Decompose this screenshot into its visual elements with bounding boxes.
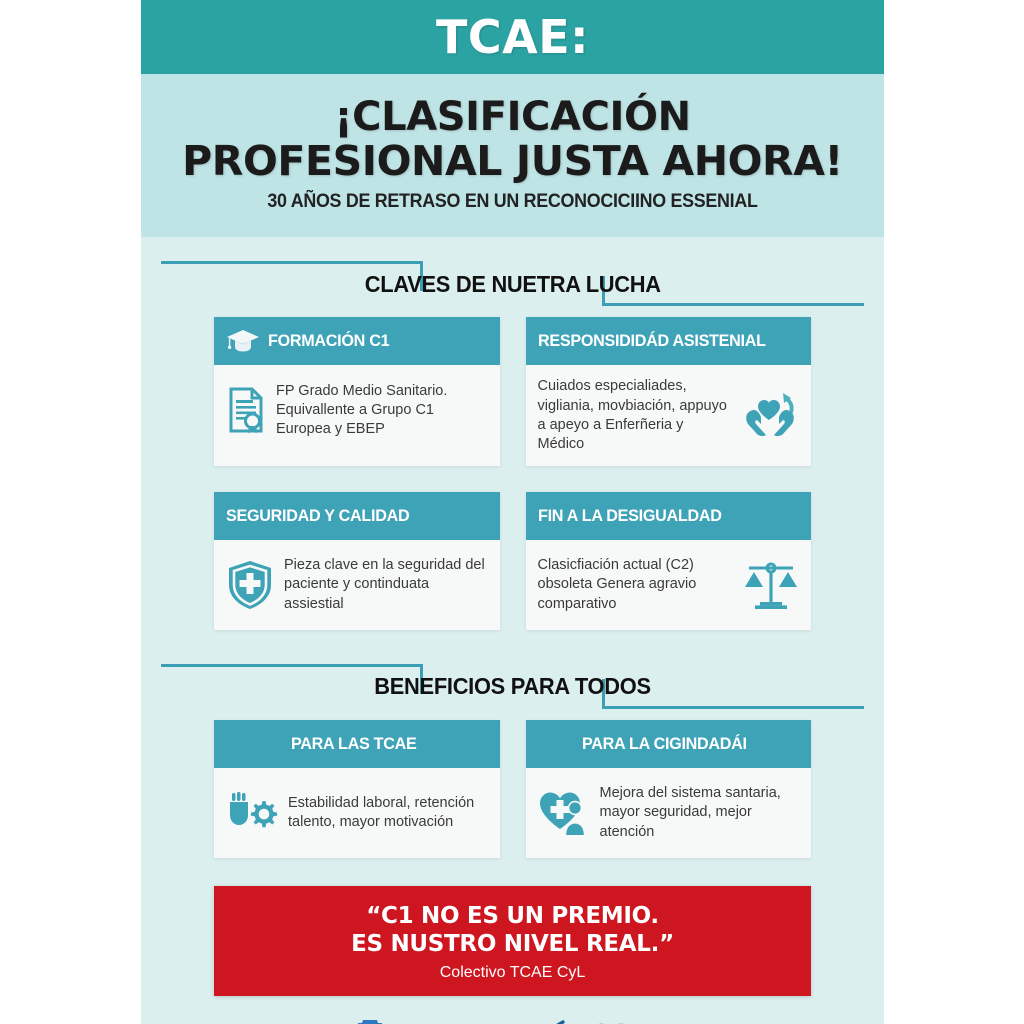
row-spacer bbox=[141, 466, 884, 492]
card-text: Mejora del sistema santaria, mayor segur… bbox=[600, 784, 800, 841]
top-banner: TCAE: bbox=[141, 0, 884, 74]
certificate-document-icon bbox=[226, 386, 266, 434]
card-title: FIN A LA DESIGUALDAD bbox=[538, 506, 722, 526]
card-title: RESPONSIDIDÁD ASISTENIAL bbox=[538, 331, 766, 351]
headline-line-2: PROFESIONAL JUSTA AHORA! bbox=[167, 139, 858, 183]
section-title: CLAVES DE NUETRA LUCHA bbox=[349, 271, 675, 298]
hero-section: ¡CLASIFICACIÓN PROFESIONAL JUSTA AHORA! … bbox=[141, 74, 884, 237]
card-body: Mejora del sistema santaria, mayor segur… bbox=[526, 768, 812, 858]
card-para-la-ciudadania: PARA LA CIGINDADÁI Mejora del sistema sa… bbox=[526, 720, 812, 858]
headline-subtext: 30 AÑOS DE RETRASO EN UN RECONOCICIINO E… bbox=[188, 191, 838, 213]
card-responsabilidad-asistencial: RESPONSIDIDÁD ASISTENIAL Cuiados especia… bbox=[526, 317, 812, 466]
uso-logo: USO CyL bbox=[547, 1020, 670, 1024]
card-header: SEGURIDAD Y CALIDAD bbox=[214, 492, 500, 540]
section-header-claves: CLAVES DE NUETRA LUCHA bbox=[161, 261, 864, 307]
footer: FACUSOCyL Sanitarios unidos USO CyL #TCA… bbox=[141, 1018, 884, 1024]
cards-grid-row-3: PARA LAS TCAE Estabilidad laboral, reten… bbox=[141, 720, 884, 858]
card-header: PARA LA CIGINDADÁI bbox=[526, 720, 812, 768]
shield-crest-icon bbox=[355, 1018, 385, 1024]
card-body: Estabilidad laboral, retención talento, … bbox=[214, 768, 500, 858]
card-header: FIN A LA DESIGUALDAD bbox=[526, 492, 812, 540]
card-formacion-c1: FORMACIÓN C1 FP Grado Medio Sanita bbox=[214, 317, 500, 466]
card-title: FORMACIÓN C1 bbox=[268, 331, 389, 351]
graduation-cap-icon bbox=[226, 328, 260, 354]
cards-grid-row-1: FORMACIÓN C1 FP Grado Medio Sanita bbox=[141, 317, 884, 466]
justice-scales-icon bbox=[743, 559, 799, 611]
cards-grid-row-2: SEGURIDAD Y CALIDAD Pieza clave en la se… bbox=[141, 492, 884, 630]
headline-line-1: ¡CLASIFICACIÓN bbox=[167, 96, 858, 139]
quote-author: Colectivo TCAE CyL bbox=[224, 964, 801, 982]
uso-swoosh-icon bbox=[547, 1020, 565, 1024]
card-text: FP Grado Medio Sanitario. Equivallente a… bbox=[276, 382, 488, 439]
card-text: Clasicfiación actual (C2) obsoleta Gener… bbox=[538, 556, 734, 613]
card-header: RESPONSIDIDÁD ASISTENIAL bbox=[526, 317, 812, 365]
card-title: PARA LAS TCAE bbox=[291, 734, 417, 754]
card-text: Estabilidad laboral, retención talento, … bbox=[288, 794, 488, 832]
facuso-logo: FACUSOCyL Sanitarios unidos bbox=[355, 1018, 511, 1024]
card-text: Cuiados especialiades, vigliania, movbia… bbox=[538, 377, 734, 454]
card-fin-desigualdad: FIN A LA DESIGUALDAD Clasicfiación actua… bbox=[526, 492, 812, 630]
quote-line-1: “C1 NO ES UN PREMIO. bbox=[224, 902, 801, 930]
logo-row: FACUSOCyL Sanitarios unidos USO CyL bbox=[141, 1018, 884, 1024]
infographic-poster: TCAE: ¡CLASIFICACIÓN PROFESIONAL JUSTA A… bbox=[141, 0, 884, 1024]
heart-person-icon bbox=[538, 789, 590, 837]
banner-title: TCAE: bbox=[436, 10, 589, 64]
card-seguridad-calidad: SEGURIDAD Y CALIDAD Pieza clave en la se… bbox=[214, 492, 500, 630]
card-title: PARA LA CIGINDADÁI bbox=[582, 734, 747, 754]
card-body: Clasicfiación actual (C2) obsoleta Gener… bbox=[526, 540, 812, 630]
quote-banner: “C1 NO ES UN PREMIO. ES NUSTRO NIVEL REA… bbox=[214, 886, 811, 996]
card-body: Cuiados especialiades, vigliania, movbia… bbox=[526, 365, 812, 466]
card-header: FORMACIÓN C1 bbox=[214, 317, 500, 365]
card-header: PARA LAS TCAE bbox=[214, 720, 500, 768]
card-body: Pieza clave en la seguridad del paciente… bbox=[214, 540, 500, 630]
card-title: SEGURIDAD Y CALIDAD bbox=[226, 506, 409, 526]
medical-shield-icon bbox=[226, 559, 274, 611]
card-para-las-tcae: PARA LAS TCAE Estabilidad laboral, reten… bbox=[214, 720, 500, 858]
quote-line-2: ES NUSTRO NIVEL REAL.” bbox=[224, 930, 801, 958]
card-text: Pieza clave en la seguridad del paciente… bbox=[284, 556, 488, 613]
uso-wordmark: USO bbox=[572, 1020, 631, 1024]
section-header-beneficios: BENEFICIOS PARA TODOS bbox=[161, 664, 864, 710]
fist-gear-icon bbox=[226, 791, 278, 835]
section-title: BENEFICIOS PARA TODOS bbox=[359, 673, 666, 700]
heart-in-hands-icon bbox=[743, 390, 799, 442]
card-body: FP Grado Medio Sanitario. Equivallente a… bbox=[214, 365, 500, 455]
